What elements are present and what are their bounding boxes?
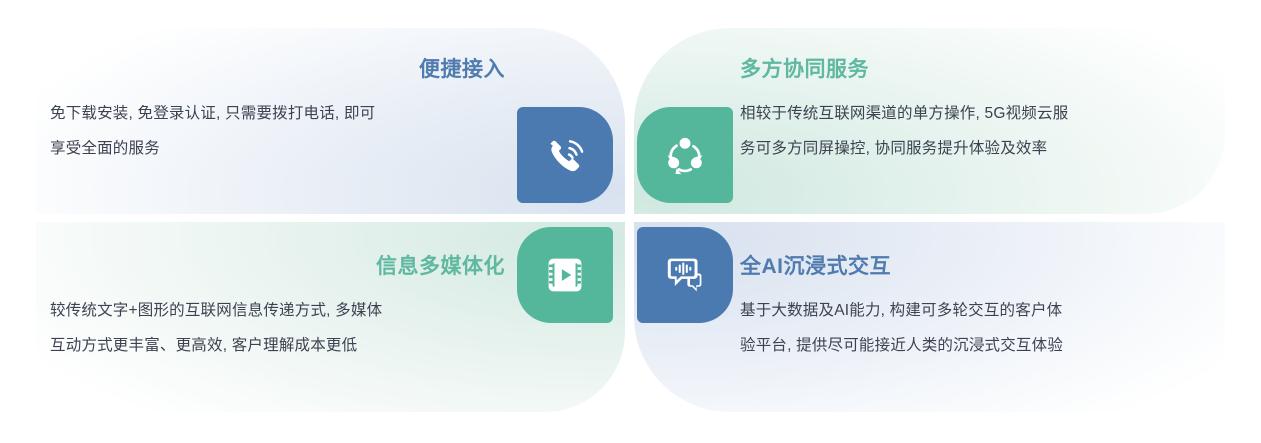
feature-text-full-ai-immersive-interaction: 全AI沉浸式交互 基于大数据及AI能力, 构建可多轮交互的客户体 验平台, 提供…	[740, 254, 1195, 363]
feature-body-line: 免下载安装, 免登录认证, 只需要拨打电话, 即可	[50, 96, 505, 131]
feature-body-line: 相较于传统互联网渠道的单方操作, 5G视频云服	[740, 96, 1195, 131]
feature-title-convenient-access: 便捷接入	[50, 57, 505, 82]
spacer	[740, 279, 1195, 293]
feature-body-convenient-access: 免下载安装, 免登录认证, 只需要拨打电话, 即可 享受全面的服务	[50, 96, 505, 166]
phone-signal-icon	[540, 130, 590, 180]
feature-body-line: 基于大数据及AI能力, 构建可多轮交互的客户体	[740, 293, 1195, 328]
feature-title-information-multimedia: 信息多媒体化	[50, 254, 505, 279]
feature-body-line: 享受全面的服务	[50, 131, 505, 166]
feature-icon-tile-full-ai-immersive-interaction	[637, 227, 733, 323]
feature-body-information-multimedia: 较传统文字+图形的互联网信息传递方式, 多媒体 互动方式更丰富、更高效, 客户理…	[50, 293, 505, 363]
film-play-icon	[540, 250, 590, 300]
feature-text-information-multimedia: 信息多媒体化 较传统文字+图形的互联网信息传递方式, 多媒体 互动方式更丰富、更…	[50, 254, 505, 363]
feature-icon-tile-information-multimedia	[517, 227, 613, 323]
feature-body-line: 验平台, 提供尽可能接近人类的沉浸式交互体验	[740, 328, 1195, 363]
spacer	[50, 279, 505, 293]
feature-body-multiparty-collaboration: 相较于传统互联网渠道的单方操作, 5G视频云服 务可多方同屏操控, 协同服务提升…	[740, 96, 1195, 166]
feature-text-convenient-access: 便捷接入 免下载安装, 免登录认证, 只需要拨打电话, 即可 享受全面的服务	[50, 57, 505, 166]
spacer	[50, 82, 505, 96]
feature-grid: 便捷接入 免下载安装, 免登录认证, 只需要拨打电话, 即可 享受全面的服务 多…	[0, 0, 1261, 443]
spacer	[740, 82, 1195, 96]
feature-title-full-ai-immersive-interaction: 全AI沉浸式交互	[740, 254, 1195, 279]
feature-body-line: 较传统文字+图形的互联网信息传递方式, 多媒体	[50, 293, 505, 328]
feature-icon-tile-convenient-access	[517, 107, 613, 203]
chat-voice-wave-icon	[660, 250, 710, 300]
feature-icon-tile-multiparty-collaboration	[637, 107, 733, 203]
feature-text-multiparty-collaboration: 多方协同服务 相较于传统互联网渠道的单方操作, 5G视频云服 务可多方同屏操控,…	[740, 57, 1195, 166]
collaboration-share-icon	[660, 130, 710, 180]
feature-body-line: 务可多方同屏操控, 协同服务提升体验及效率	[740, 131, 1195, 166]
feature-body-full-ai-immersive-interaction: 基于大数据及AI能力, 构建可多轮交互的客户体 验平台, 提供尽可能接近人类的沉…	[740, 293, 1195, 363]
feature-title-multiparty-collaboration: 多方协同服务	[740, 57, 1195, 82]
feature-body-line: 互动方式更丰富、更高效, 客户理解成本更低	[50, 328, 505, 363]
